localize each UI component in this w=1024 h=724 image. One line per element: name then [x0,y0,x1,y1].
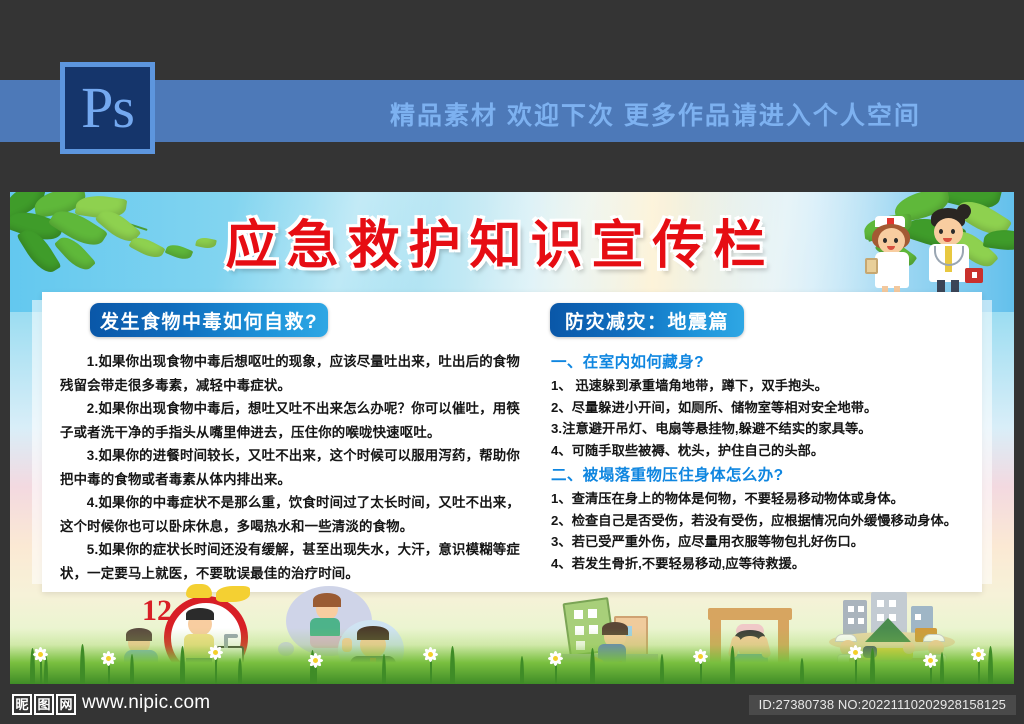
left-paragraph-3: 3.如果你的进餐时间较长，又吐不出来，这个时候可以服用泻药，帮助你把中毒的食物或… [60,444,520,491]
daisy-flower [33,647,48,662]
nipic-logo-char-2: 图 [34,694,54,715]
photoshop-logo-icon: Ps [60,62,155,154]
daisy-flower [101,651,116,666]
right-s1-item-3: 3.注意避开吊灯、电扇等悬挂物,躲避不结实的家具等。 [551,418,981,440]
left-paragraph-5: 5.如果你的症状长时间还没有缓解，甚至出现失水，大汗，意识模糊等症状，一定要马上… [60,538,520,585]
bottom-illustration-band: 12 [10,592,1014,684]
daisy-flower [923,653,938,668]
right-heading-2: 二、被塌落重物压住身体怎么办? [551,463,981,488]
grass-strip [10,628,1014,684]
right-s2-item-4: 4、若发生骨折,不要轻易移动,应等待救援。 [551,553,981,575]
daisy-flower [308,653,323,668]
nipic-logo-char-3: 网 [56,694,76,715]
nipic-logo-char-1: 昵 [12,694,32,715]
daisy-flower [548,651,563,666]
left-article-body: 1.如果你出现食物中毒后想呕吐的现象，应该尽量吐出来，吐出后的食物残留会带走很多… [60,350,520,585]
right-s1-item-4: 4、可随手取些被褥、枕头，护住自己的头部。 [551,440,981,462]
daisy-flower [208,645,223,660]
doctor-figure [917,206,981,306]
left-paragraph-4: 4.如果你的中毒症状不是那么重，饮食时间过了太长时间，又吐不出来，这个时候你也可… [60,491,520,538]
daisy-flower [423,647,438,662]
section-badge-food-poisoning: 发生食物中毒如何自救? [90,303,328,337]
left-paragraph-2: 2.如果你出现食物中毒后，想吐又吐不出来怎么办呢？你可以催吐，用筷子或者洗干净的… [60,397,520,444]
daisy-flower [848,645,863,660]
right-s2-item-3: 3、若已受严重外伤，应尽量用衣服等物包扎好伤口。 [551,531,981,553]
right-s1-item-2: 2、尽量躲进小开间，如厕所、储物室等相对安全地带。 [551,397,981,419]
nipic-url: www.nipic.com [82,692,210,714]
nipic-logo: 昵 图 网 [12,693,76,715]
image-id-tag: ID:27380738 NO:20221110202928158125 [749,695,1016,715]
poster-title: 应急救护知识宣传栏 [160,212,840,282]
daisy-flower [693,649,708,664]
left-paragraph-1: 1.如果你出现食物中毒后想呕吐的现象，应该尽量吐出来，吐出后的食物残留会带走很多… [60,350,520,397]
right-heading-1: 一、在室内如何藏身? [551,350,981,375]
daisy-flower [971,647,986,662]
right-s2-item-1: 1、查清压在身上的物体是何物，不要轻易移动物体或身体。 [551,488,981,510]
right-article-body: 一、在室内如何藏身? 1、 迅速躲到承重墙角地带，蹲下，双手抱头。 2、尽量躲进… [551,348,981,574]
section-badge-earthquake: 防灾减灾：地震篇 [550,303,744,337]
banner-tagline: 精品素材 欢迎下次 更多作品请进入个人空间 [390,96,990,128]
right-s1-item-1: 1、 迅速躲到承重墙角地带，蹲下，双手抱头。 [551,375,981,397]
screenshot-root: Ps 精品素材 欢迎下次 更多作品请进入个人空间 [0,0,1024,724]
right-s2-item-2: 2、检查自己是否受伤，若没有受伤，应根据情况向外缓慢移动身体。 [551,510,981,532]
